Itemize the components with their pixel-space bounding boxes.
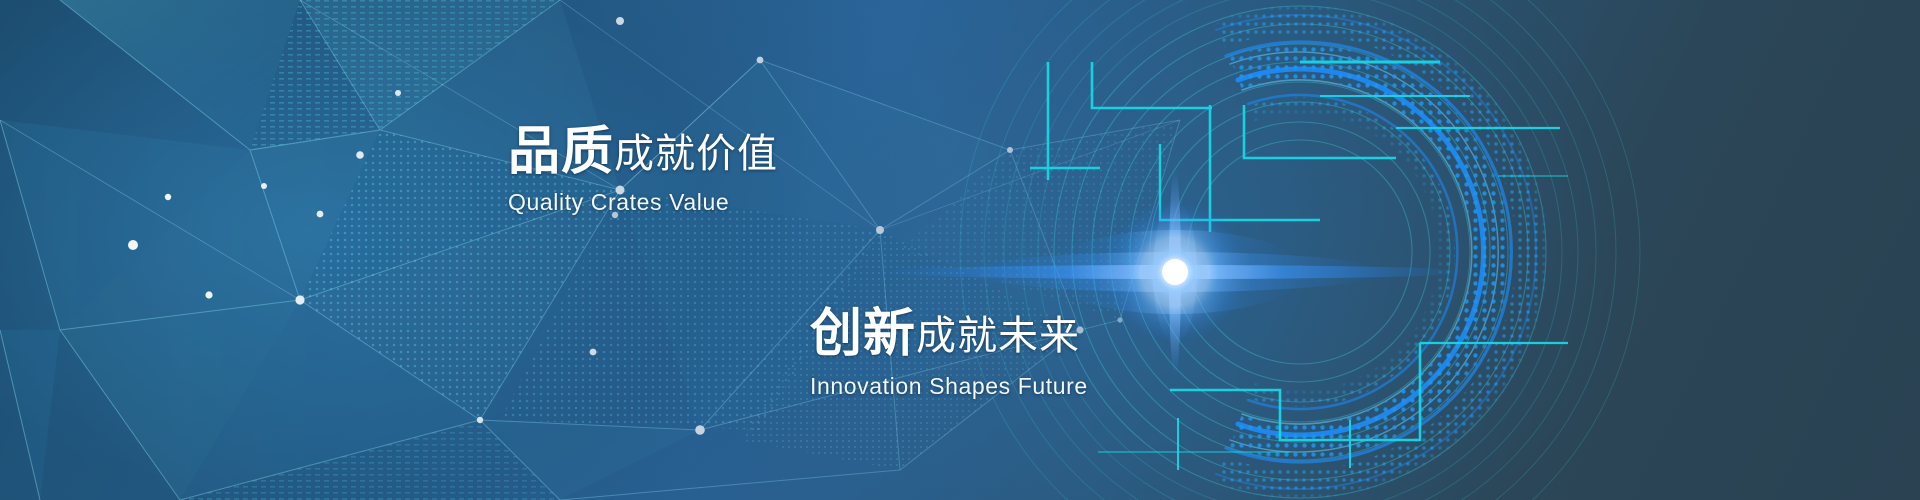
slogan-innovation-headline-strong: 创新: [810, 304, 916, 364]
slogan-quality-headline: 品质成就价值: [508, 126, 778, 178]
slogan-block-innovation: 创新成就未来 Innovation Shapes Future: [810, 308, 1088, 400]
slogan-innovation-headline-light: 成就未来: [916, 313, 1080, 359]
slogan-quality-headline-strong: 品质: [508, 122, 614, 182]
light-flare: [0, 0, 1920, 500]
slogan-block-quality: 品质成就价值 Quality Crates Value: [508, 126, 778, 216]
slogan-quality-subtitle: Quality Crates Value: [508, 189, 778, 216]
slogan-innovation-headline: 创新成就未来: [810, 308, 1088, 360]
hero-banner: 品质成就价值 Quality Crates Value 创新成就未来 Innov…: [0, 0, 1920, 500]
slogan-quality-headline-light: 成就价值: [614, 131, 778, 177]
slogan-innovation-subtitle: Innovation Shapes Future: [810, 373, 1088, 400]
